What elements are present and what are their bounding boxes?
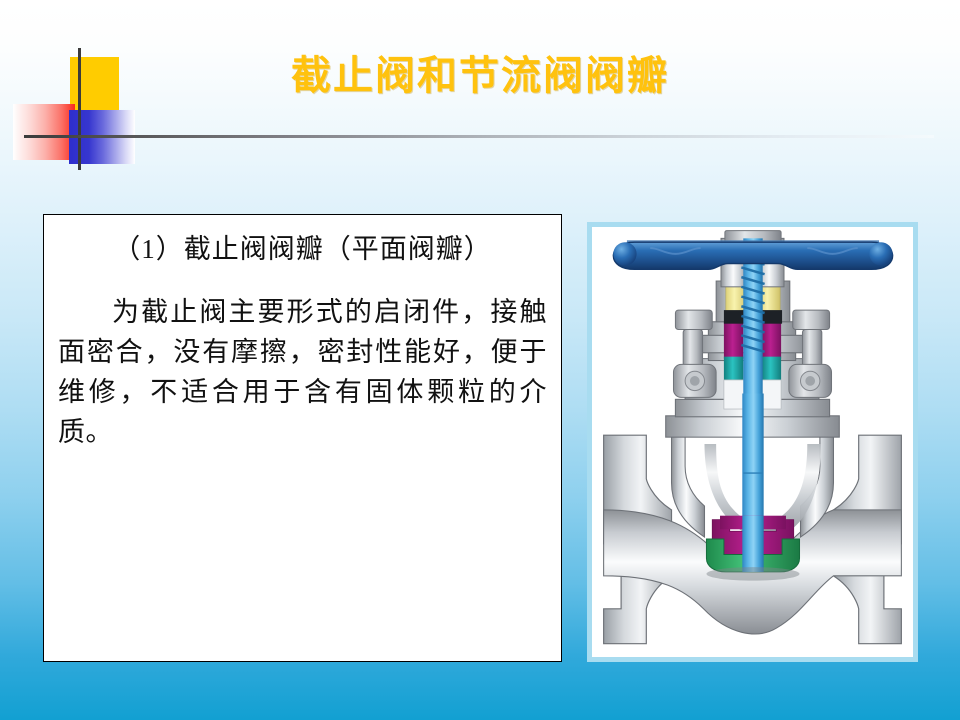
page-title: 截止阀和节流阀阀瓣 — [0, 53, 960, 99]
decorative-motif — [0, 0, 250, 200]
decorative-horizontal-line — [24, 135, 934, 138]
content-textbox: （1）截止阀阀瓣（平面阀瓣） 为截止阀主要形式的启闭件，接触面密合，没有摩擦，密… — [43, 214, 562, 662]
slide-canvas: 截止阀和节流阀阀瓣 （1）截止阀阀瓣（平面阀瓣） 为截止阀主要形式的启闭件，接触… — [0, 0, 960, 720]
valve-cross-section-figure — [587, 222, 918, 662]
decorative-red-gradient-rect — [13, 104, 75, 160]
textbox-body: 为截止阀主要形式的启闭件，接触面密合，没有摩擦，密封性能好，便于维修，不适合用于… — [58, 293, 547, 453]
textbox-spacer — [58, 267, 547, 293]
textbox-heading: （1）截止阀阀瓣（平面阀瓣） — [58, 231, 547, 267]
valve-diagram-icon — [592, 227, 913, 657]
